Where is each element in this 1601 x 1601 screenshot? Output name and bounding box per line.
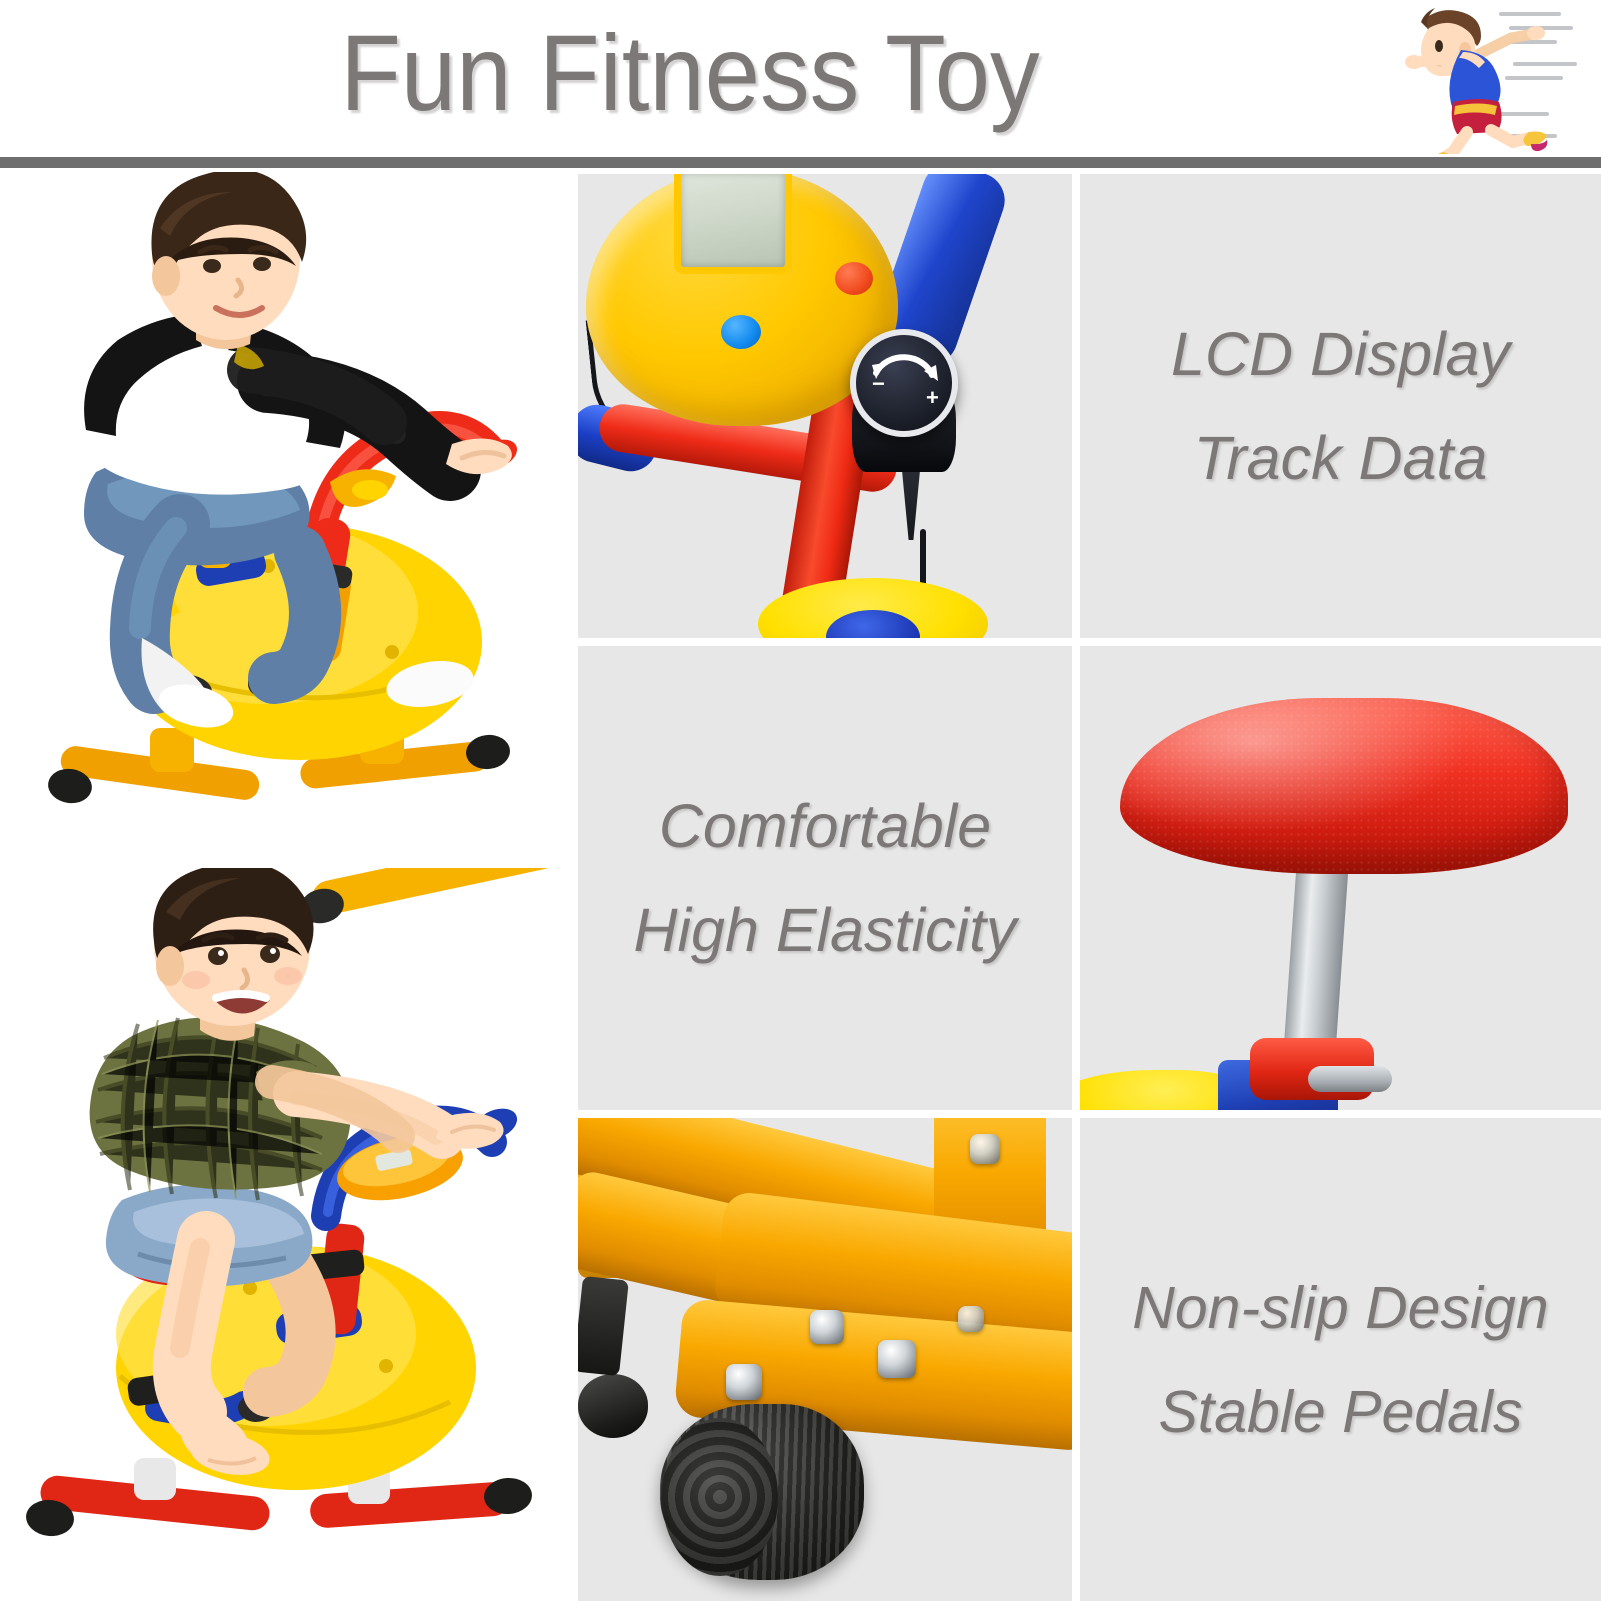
red-saddle (1120, 698, 1568, 874)
content-grid: − + LCD Display Track Data Comfortable H… (0, 168, 1601, 1601)
lifestyle-photo-older-boy (0, 172, 572, 878)
toddler-riding-illustration (0, 868, 572, 1601)
feature-seat-line1: Comfortable (659, 774, 991, 878)
blue-button[interactable] (721, 315, 761, 349)
black-pad (578, 1276, 629, 1376)
tube-end-cap (578, 1374, 648, 1438)
chrome-bolt (878, 1340, 916, 1378)
saddle-texture (1120, 698, 1568, 874)
seat-photo-tile (1080, 646, 1601, 1110)
lifestyle-photo-toddler (0, 868, 572, 1601)
chrome-bolt (958, 1306, 984, 1332)
lcd-screen (674, 174, 792, 274)
header: Fun Fitness Toy (0, 0, 1601, 157)
red-button[interactable] (835, 262, 873, 295)
knob-minus-label: − (872, 371, 885, 396)
lifestyle-photo-column (0, 168, 572, 1601)
feature-lcd-line1: LCD Display (1171, 302, 1510, 406)
feature-pedal-line1: Non-slip Design (1132, 1256, 1548, 1360)
chrome-bolt (726, 1364, 762, 1400)
feature-pedal-line2: Stable Pedals (1158, 1360, 1522, 1464)
circular-arrows-icon: − + (850, 329, 958, 437)
page-title: Fun Fitness Toy (55, 8, 1325, 138)
chrome-bolt (810, 1310, 844, 1344)
feature-text-lcd: LCD Display Track Data (1080, 174, 1601, 638)
chrome-seat-post (1283, 862, 1348, 1055)
feature-lcd-line2: Track Data (1194, 406, 1488, 510)
product-infographic: Fun Fitness Toy (0, 0, 1601, 1601)
feature-seat-line2: High Elasticity (633, 878, 1016, 982)
feature-text-seat: Comfortable High Elasticity (578, 646, 1072, 1110)
chrome-bolt (970, 1134, 1000, 1164)
older-boy-riding-illustration (0, 172, 572, 878)
lcd-console-photo-tile: − + (578, 174, 1072, 638)
clamp-lever[interactable] (1308, 1066, 1392, 1092)
knob-plus-label: + (926, 385, 939, 410)
non-slip-cap-face (662, 1418, 778, 1576)
feature-text-pedal: Non-slip Design Stable Pedals (1080, 1118, 1601, 1601)
pedal-photo-tile (578, 1118, 1072, 1601)
header-divider (0, 157, 1601, 168)
running-boy-icon (1383, 2, 1583, 154)
